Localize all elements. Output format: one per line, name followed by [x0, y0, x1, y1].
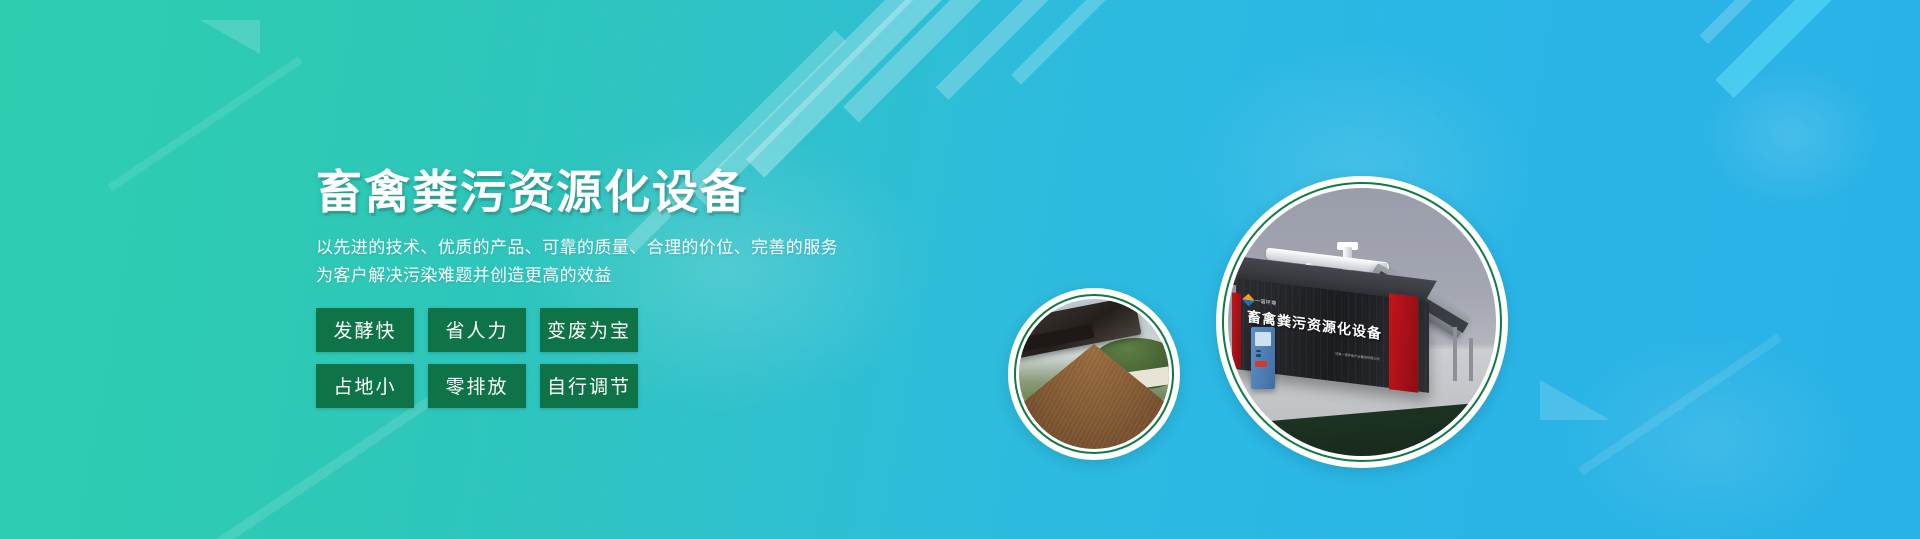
feature-tag-small-footprint[interactable]: 占地小 — [316, 364, 414, 408]
banner-subtitle: 以先进的技术、优质的产品、可靠的质量、合理的价位、完善的服务 为客户解决污染难题… — [316, 234, 936, 290]
banner-title: 畜禽粪污资源化设备 — [316, 168, 936, 218]
feature-tag-list: 发酵快 省人力 变废为宝 占地小 零排放 自行调节 — [316, 308, 654, 408]
render-container-end-panel — [1232, 292, 1241, 368]
render-cabinet-button — [1255, 361, 1267, 368]
background-speckle-texture — [0, 0, 1920, 539]
compost-photo-circle — [1008, 288, 1180, 460]
feature-tag-self-adjusting[interactable]: 自行调节 — [540, 364, 638, 408]
equipment-photo-circle: 一诺环境 畜禽粪污资源化设备 河南一诺环保产业集团有限公司 — [1216, 176, 1508, 468]
equipment-photo: 一诺环境 畜禽粪污资源化设备 河南一诺环保产业集团有限公司 — [1228, 188, 1496, 456]
render-support-leg — [1453, 327, 1457, 381]
render-cabinet-indicator — [1256, 354, 1261, 356]
banner-copy-block: 畜禽粪污资源化设备 以先进的技术、优质的产品、可靠的质量、合理的价位、完善的服务… — [316, 168, 936, 408]
render-control-cabinet — [1251, 327, 1275, 389]
render-logo-text: 一诺环境 — [1255, 297, 1277, 307]
render-support-leg — [1469, 338, 1473, 381]
banner-subtitle-line-1: 以先进的技术、优质的产品、可靠的质量、合理的价位、完善的服务 — [316, 234, 936, 262]
feature-tag-waste-to-treasure[interactable]: 变废为宝 — [540, 308, 638, 352]
feature-tag-labor-saving[interactable]: 省人力 — [428, 308, 526, 352]
render-cabinet-indicator — [1256, 350, 1261, 352]
promo-banner: 畜禽粪污资源化设备 以先进的技术、优质的产品、可靠的质量、合理的价位、完善的服务… — [0, 0, 1920, 539]
render-cabinet-screen — [1255, 332, 1270, 346]
banner-subtitle-line-2: 为客户解决污染难题并创造更高的效益 — [316, 262, 936, 290]
diamond-logo-icon — [1242, 293, 1255, 306]
compost-photo — [1019, 299, 1169, 449]
feature-tag-zero-emission[interactable]: 零排放 — [428, 364, 526, 408]
feature-tag-fermentation-fast[interactable]: 发酵快 — [316, 308, 414, 352]
